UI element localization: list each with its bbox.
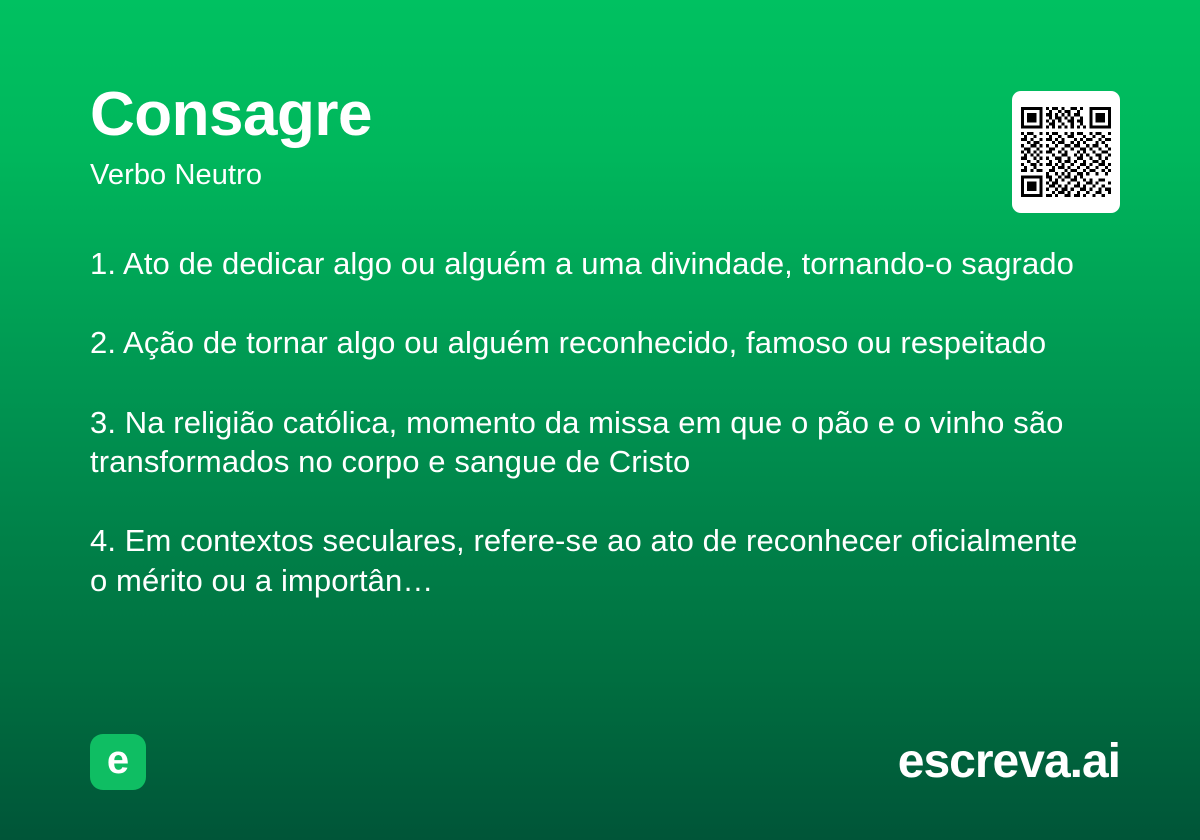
word-title: Consagre: [90, 84, 970, 146]
word-class-label: Verbo Neutro: [90, 160, 970, 192]
qr-code-panel[interactable]: [1012, 91, 1120, 213]
definition-item: 1. Ato de dedicar algo ou alguém a uma d…: [90, 244, 1080, 283]
definition-list: 1. Ato de dedicar algo ou alguém a uma d…: [90, 244, 1080, 600]
definition-item: 2. Ação de tornar algo ou alguém reconhe…: [90, 323, 1080, 362]
dictionary-card: Consagre Verbo Neutro: [0, 0, 1200, 840]
qr-code-icon: [1021, 107, 1111, 197]
logo-letter: e: [107, 740, 129, 780]
definition-item: 3. Na religião católica, momento da miss…: [90, 403, 1080, 482]
brand-wordmark: escreva.ai: [898, 738, 1120, 786]
definition-item: 4. Em contextos seculares, refere-se ao …: [90, 521, 1080, 600]
card-footer: e escreva.ai: [90, 734, 1120, 790]
escreva-logo-badge: e: [90, 734, 146, 790]
card-header: Consagre Verbo Neutro: [90, 84, 970, 192]
